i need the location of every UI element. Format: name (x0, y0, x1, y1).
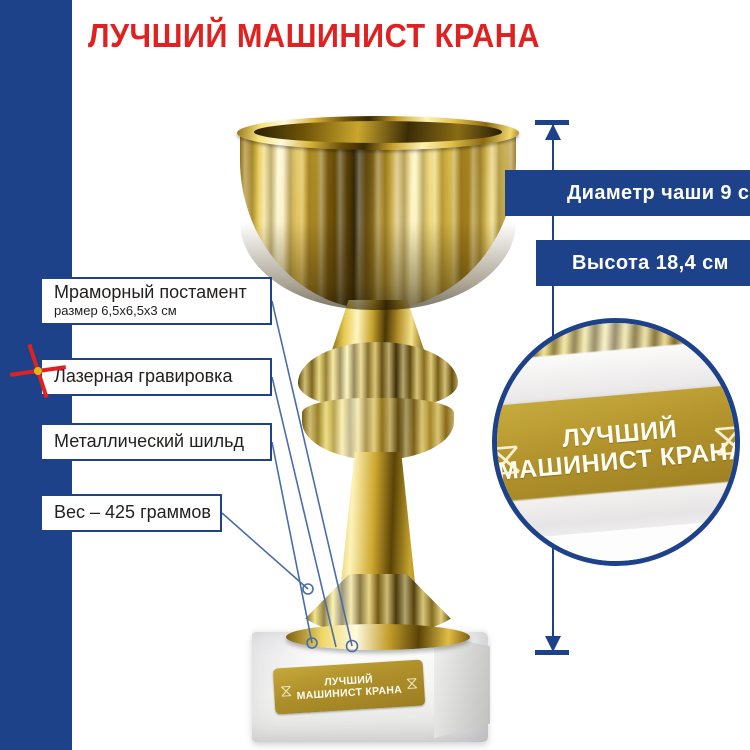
plaque-ornament-right-icon: ⧖ (405, 674, 418, 692)
dimension-banner-cup-diameter[interactable]: Диаметр чаши 9 см (505, 170, 750, 216)
magnified-plaque-detail: ⧖ ЛУЧШИЙ МАШИНИСТ КРАНА ⧖ (492, 318, 740, 566)
feature-label-title: Лазерная гравировка (54, 367, 270, 386)
magnifier-ornament-left-icon: ⧖ (492, 434, 524, 483)
feature-label-title: Вес – 425 граммов (54, 503, 220, 522)
trophy-lower-knob (302, 398, 454, 460)
trophy-stem (320, 452, 436, 584)
red-cross-marker-icon (10, 343, 66, 399)
dimension-banner-height[interactable]: Высота 18,4 см (536, 240, 750, 286)
feature-label-title: Металлический шильд (54, 432, 270, 451)
feature-label-subtitle: размер 6,5х6,5х3 см (54, 304, 270, 319)
plaque-text: ЛУЧШИЙ МАШИНИСТ КРАНА (296, 671, 403, 702)
feature-label-weight[interactable]: Вес – 425 граммов (40, 494, 222, 532)
engraved-plaque: ⧖ ЛУЧШИЙ МАШИНИСТ КРАНА ⧖ (273, 659, 426, 714)
trophy-cup-shading (240, 222, 516, 310)
page-title: ЛУЧШИЙ МАШИНИСТ КРАНА (88, 18, 479, 54)
plaque-ornament-left-icon: ⧖ (280, 682, 293, 700)
trophy-cup-rim-inner (254, 121, 502, 143)
dimension-tick-bottom (535, 650, 569, 655)
feature-label-title: Мраморный постамент (54, 283, 270, 302)
dimension-banner-text: Диаметр чаши 9 см (567, 182, 750, 205)
marble-base-side (434, 634, 490, 738)
trophy-foot-ring (286, 624, 470, 650)
dimension-banner-text: Высота 18,4 см (572, 252, 729, 275)
magnifier-plaque-text: ЛУЧШИЙ МАШИНИСТ КРАНА (494, 410, 740, 486)
magnifier-ornament-right-icon: ⧖ (710, 414, 740, 463)
infographic-canvas: ЛУЧШИЙ МАШИНИСТ КРАНА ⧖ ЛУЧШИЙ МАШИНИСТ … (0, 0, 750, 750)
dimension-arrow-up-icon (545, 124, 561, 140)
feature-label-laser-engraving[interactable]: Лазерная гравировка (40, 358, 272, 396)
feature-label-marble-pedestal[interactable]: Мраморный постамент размер 6,5х6,5х3 см (40, 277, 272, 325)
trophy-image: ⧖ ЛУЧШИЙ МАШИНИСТ КРАНА ⧖ (228, 112, 528, 712)
feature-label-metal-shield[interactable]: Металлический шильд (40, 423, 272, 461)
